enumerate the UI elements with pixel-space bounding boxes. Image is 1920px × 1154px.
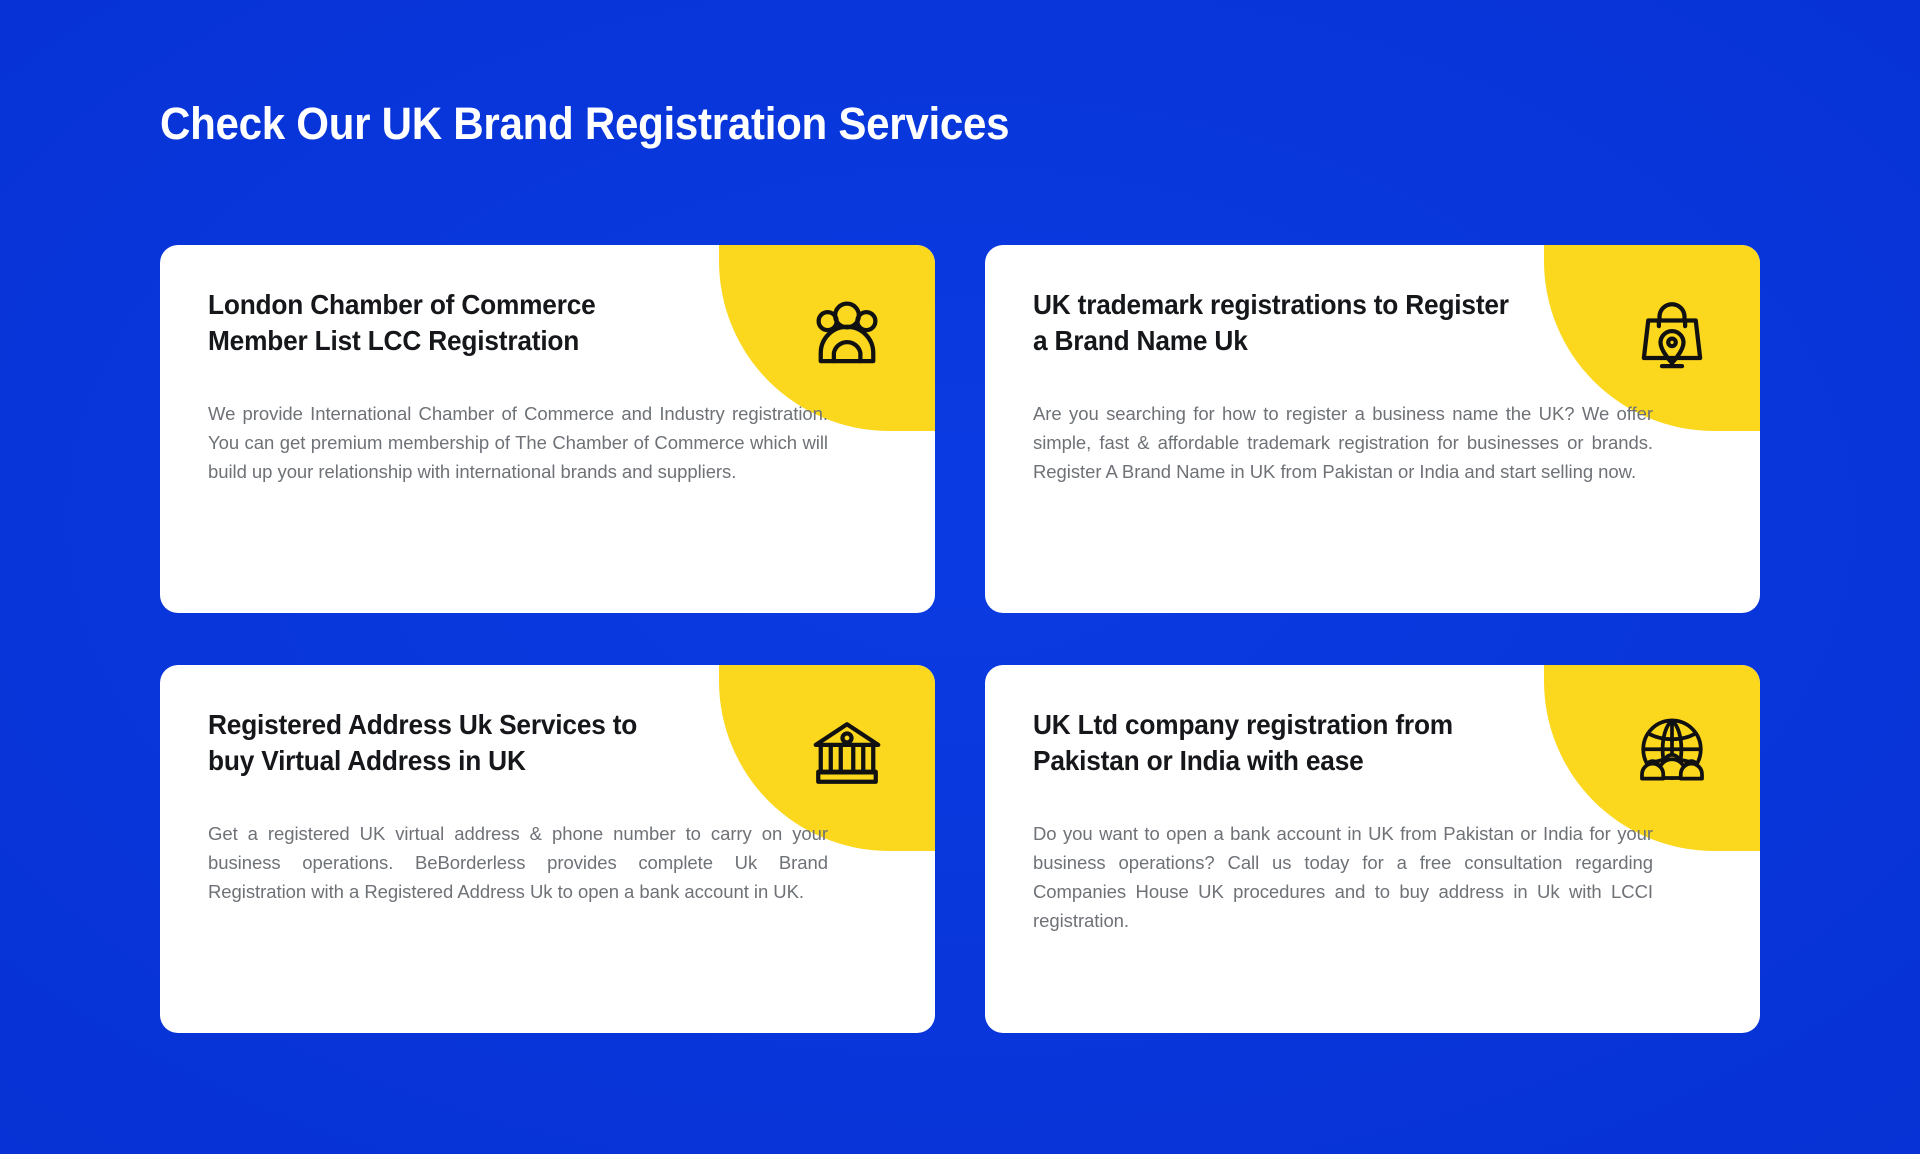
card-body: UK trademark registrations to Register a… [985,245,1760,486]
card-title: UK Ltd company registration from Pakista… [1033,707,1511,779]
card-description: Do you want to open a bank account in UK… [1033,819,1653,936]
page-root: Check Our UK Brand Registration Services… [0,0,1920,1154]
page-title: Check Our UK Brand Registration Services [160,98,1009,150]
card-description: Are you searching for how to register a … [1033,399,1653,487]
service-card[interactable]: UK trademark registrations to Register a… [985,245,1760,613]
service-card[interactable]: Registered Address Uk Services to buy Vi… [160,665,935,1033]
service-card[interactable]: London Chamber of Commerce Member List L… [160,245,935,613]
card-title: Registered Address Uk Services to buy Vi… [208,707,686,779]
services-card-grid: London Chamber of Commerce Member List L… [160,245,1760,1033]
service-card[interactable]: UK Ltd company registration from Pakista… [985,665,1760,1033]
card-body: London Chamber of Commerce Member List L… [160,245,935,486]
card-title: UK trademark registrations to Register a… [1033,287,1511,359]
card-body: Registered Address Uk Services to buy Vi… [160,665,935,906]
card-body: UK Ltd company registration from Pakista… [985,665,1760,935]
card-description: Get a registered UK virtual address & ph… [208,819,828,907]
card-description: We provide International Chamber of Comm… [208,399,828,487]
card-title: London Chamber of Commerce Member List L… [208,287,686,359]
